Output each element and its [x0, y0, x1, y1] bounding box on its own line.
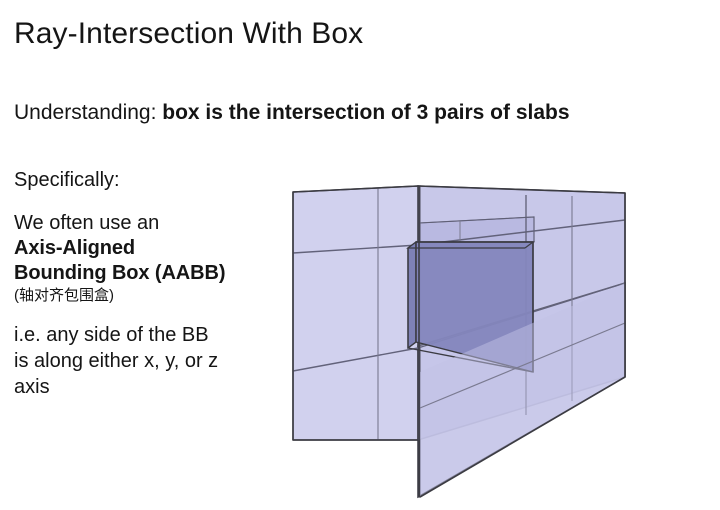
text-bounding-box-aabb: Bounding Box (AABB) — [14, 261, 286, 286]
text-ie-line-3: axis — [14, 374, 286, 400]
subtitle-lead: Understanding: — [14, 101, 162, 124]
page-title: Ray-Intersection With Box — [14, 16, 363, 52]
slide-canvas: Ray-Intersection With Box Understanding:… — [0, 0, 720, 510]
text-we-often-use-an: We often use an — [14, 211, 286, 236]
text-axis-aligned: Axis-Aligned — [14, 236, 286, 261]
aabb-box-left-face — [408, 242, 416, 348]
text-ie-line-1: i.e. any side of the BB — [14, 322, 286, 348]
text-specifically: Specifically: — [14, 168, 286, 193]
slabs-figure — [282, 176, 642, 506]
subtitle-line: Understanding: box is the intersection o… — [14, 100, 570, 126]
text-aabb-chinese-gloss: (轴对齐包围盒) — [14, 286, 286, 306]
body-text-column: Specifically: We often use an Axis-Align… — [14, 168, 286, 400]
subtitle-emphasis: box is the intersection of 3 pairs of sl… — [162, 101, 569, 124]
slabs-figure-svg — [282, 176, 642, 506]
slab-plane-left-wall — [293, 186, 418, 440]
text-ie-line-2: is along either x, y, or z — [14, 348, 286, 374]
